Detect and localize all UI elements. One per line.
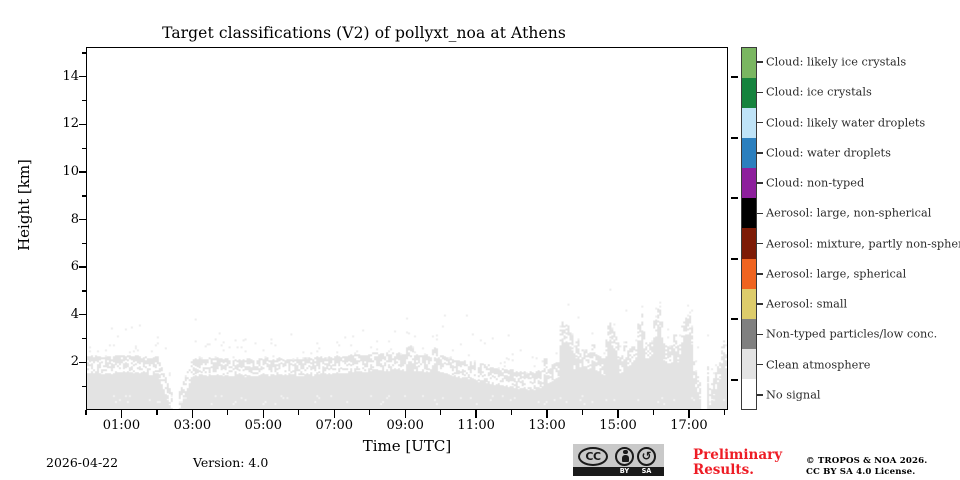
colorbar-label: Cloud: likely water droplets bbox=[766, 116, 960, 129]
x-tick-minor bbox=[582, 410, 583, 415]
y-tick bbox=[79, 124, 87, 125]
colorbar-cell bbox=[742, 78, 756, 108]
credit-line-1: © TROPOS & NOA 2026. bbox=[806, 456, 956, 467]
colorbar-tick bbox=[757, 61, 763, 62]
x-tick-label: 15:00 bbox=[583, 418, 653, 433]
colorbar-cell bbox=[742, 168, 756, 198]
colorbar-labels: Cloud: likely ice crystalsCloud: ice cry… bbox=[766, 47, 960, 410]
x-tick-label: 01:00 bbox=[86, 418, 156, 433]
colorbar-tick bbox=[757, 243, 763, 244]
x-tick-minor bbox=[724, 410, 725, 415]
x-tick bbox=[121, 410, 122, 418]
x-tick bbox=[688, 410, 689, 418]
colorbar-boundary-tick bbox=[731, 379, 738, 381]
colorbar-label: Cloud: water droplets bbox=[766, 146, 960, 159]
colorbar-tick bbox=[757, 334, 763, 335]
y-axis-tick-labels: 2468101214 bbox=[36, 0, 79, 480]
preliminary-line-2: Results. bbox=[693, 463, 789, 478]
preliminary-results-note: Preliminary Results. bbox=[693, 448, 789, 478]
y-tick-minor bbox=[82, 386, 88, 387]
x-tick bbox=[546, 410, 547, 418]
colorbar-tick bbox=[757, 92, 763, 93]
colorbar-tick bbox=[757, 152, 763, 153]
colorbar-cell bbox=[742, 108, 756, 138]
y-tick bbox=[79, 314, 87, 315]
target-classification-heatmap bbox=[87, 48, 727, 409]
colorbar-tick bbox=[757, 394, 763, 395]
x-tick-label: 03:00 bbox=[157, 418, 227, 433]
preliminary-line-1: Preliminary bbox=[693, 448, 789, 463]
colorbar-label: No signal bbox=[766, 388, 960, 401]
colorbar-boundary-tick bbox=[731, 137, 738, 139]
x-tick-minor bbox=[156, 410, 157, 415]
colorbar-label: Aerosol: mixture, partly non-spherical bbox=[766, 237, 960, 250]
date-label: 2026-04-22 bbox=[46, 455, 118, 470]
copyright-credits: © TROPOS & NOA 2026. CC BY SA 4.0 Licens… bbox=[806, 456, 956, 477]
y-tick-minor bbox=[82, 290, 88, 291]
y-tick-minor bbox=[82, 148, 88, 149]
person-head bbox=[623, 450, 628, 455]
colorbar-label: Cloud: non-typed bbox=[766, 177, 960, 190]
x-tick-label: 05:00 bbox=[228, 418, 298, 433]
colorbar-cell bbox=[742, 198, 756, 228]
cc-sa-share-icon: ↺ bbox=[637, 447, 656, 466]
colorbar-cell bbox=[742, 259, 756, 289]
x-tick bbox=[334, 410, 335, 418]
colorbar-boundary-tick bbox=[731, 318, 738, 320]
y-axis-title: Height [km] bbox=[15, 125, 33, 285]
x-tick-label: 13:00 bbox=[512, 418, 582, 433]
y-tick bbox=[79, 76, 87, 77]
y-tick bbox=[79, 171, 87, 172]
cc-logo-icon: CC bbox=[578, 447, 608, 466]
colorbar-cell bbox=[742, 379, 756, 409]
y-tick-label: 6 bbox=[45, 259, 79, 274]
colorbar-tick bbox=[757, 303, 763, 304]
colorbar-tick bbox=[757, 213, 763, 214]
y-tick bbox=[79, 219, 87, 220]
chart-title: Target classifications (V2) of pollyxt_n… bbox=[0, 24, 728, 42]
x-tick-minor bbox=[653, 410, 654, 415]
x-tick bbox=[617, 410, 618, 418]
x-tick-minor bbox=[369, 410, 370, 415]
colorbar-tick bbox=[757, 182, 763, 183]
colorbar-label: Cloud: ice crystals bbox=[766, 86, 960, 99]
cc-by-person-icon bbox=[615, 447, 634, 466]
y-tick-minor bbox=[82, 195, 88, 196]
person-body bbox=[622, 455, 629, 462]
y-tick-minor bbox=[82, 338, 88, 339]
colorbar bbox=[741, 47, 757, 410]
x-tick-minor bbox=[511, 410, 512, 415]
colorbar-boundary-tick bbox=[731, 258, 738, 260]
colorbar-cell bbox=[742, 319, 756, 349]
x-tick-minor bbox=[85, 410, 86, 415]
credit-line-2: CC BY SA 4.0 License. bbox=[806, 467, 956, 478]
x-tick-label: 07:00 bbox=[299, 418, 369, 433]
cc-badge-icons: CC ↺ bbox=[573, 444, 664, 467]
y-tick-label: 4 bbox=[45, 307, 79, 322]
version-label: Version: 4.0 bbox=[193, 455, 268, 470]
y-tick-label: 10 bbox=[45, 164, 79, 179]
colorbar-tick bbox=[757, 273, 763, 274]
y-tick-minor bbox=[82, 52, 88, 53]
colorbar-boundary-tick bbox=[731, 76, 738, 78]
colorbar-cell bbox=[742, 349, 756, 379]
y-tick-label: 8 bbox=[45, 212, 79, 227]
x-tick bbox=[192, 410, 193, 418]
y-tick bbox=[79, 362, 87, 363]
colorbar-label: Clean atmosphere bbox=[766, 358, 960, 371]
colorbar-ticks-right bbox=[757, 47, 766, 410]
y-tick-minor bbox=[82, 100, 88, 101]
cc-by-label: BY bbox=[613, 467, 636, 476]
x-tick bbox=[405, 410, 406, 418]
x-tick-label: 17:00 bbox=[654, 418, 724, 433]
y-tick-label: 14 bbox=[45, 69, 79, 84]
y-tick-minor bbox=[82, 243, 88, 244]
cc-license-badge: CC ↺ BY SA bbox=[573, 444, 664, 476]
colorbar-cell bbox=[742, 228, 756, 258]
figure-canvas: Target classifications (V2) of pollyxt_n… bbox=[0, 0, 960, 480]
x-tick-minor bbox=[440, 410, 441, 415]
colorbar-label: Aerosol: large, spherical bbox=[766, 267, 960, 280]
colorbar-boundary-tick bbox=[731, 197, 738, 199]
y-tick-label: 2 bbox=[45, 354, 79, 369]
colorbar-label: Aerosol: large, non-spherical bbox=[766, 207, 960, 220]
colorbar-cell bbox=[742, 289, 756, 319]
x-tick-minor bbox=[298, 410, 299, 415]
colorbar-label: Aerosol: small bbox=[766, 298, 960, 311]
colorbar-label: Non-typed particles/low conc. bbox=[766, 328, 960, 341]
x-tick bbox=[263, 410, 264, 418]
colorbar-tick bbox=[757, 122, 763, 123]
y-tick-label: 12 bbox=[45, 116, 79, 131]
y-tick bbox=[79, 266, 87, 267]
person-glyph bbox=[617, 447, 632, 466]
x-tick-label: 11:00 bbox=[441, 418, 511, 433]
cc-sa-label: SA bbox=[635, 467, 658, 476]
colorbar-ticks-left bbox=[731, 47, 741, 410]
plot-area bbox=[86, 47, 728, 410]
colorbar-tick bbox=[757, 364, 763, 365]
x-tick bbox=[475, 410, 476, 418]
colorbar-label: Cloud: likely ice crystals bbox=[766, 56, 960, 69]
x-tick-label: 09:00 bbox=[370, 418, 440, 433]
colorbar-cell bbox=[742, 138, 756, 168]
x-tick-minor bbox=[227, 410, 228, 415]
colorbar-cell bbox=[742, 48, 756, 78]
